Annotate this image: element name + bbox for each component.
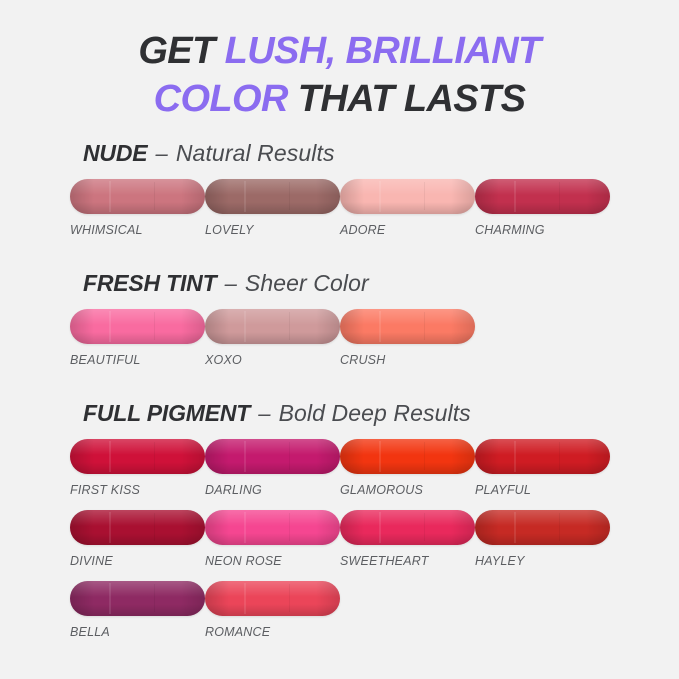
swatch-shading-edger: [316, 179, 340, 214]
shade-name-label: WHIMSICAL: [70, 223, 205, 237]
swatch-shading-edgel: [205, 309, 229, 344]
swatch-grid: BEAUTIFULXOXOCRUSH: [0, 309, 679, 380]
swatch-shading-sheenb: [205, 604, 340, 616]
swatch-shading-edger: [451, 439, 475, 474]
shade-swatch[interactable]: [205, 439, 340, 474]
swatch-shading-seam1: [109, 583, 111, 614]
swatch-shading-seam2: [424, 442, 425, 470]
swatch-item-hayley[interactable]: HAYLEY: [475, 510, 610, 581]
shade-swatch[interactable]: [205, 581, 340, 616]
shade-section-nude: NUDE – Natural ResultsWHIMSICALLOVELYADO…: [0, 142, 679, 250]
swatch-row: DIVINENEON ROSESWEETHEARTHAYLEY: [70, 510, 679, 581]
swatch-shading-edgel: [205, 510, 229, 545]
section-title: FRESH TINT: [83, 270, 216, 296]
swatch-shading-sheena: [340, 309, 475, 325]
swatch-shading-seam2: [289, 584, 290, 612]
swatch-shading-sheena: [205, 179, 340, 195]
swatch-shading-seam2: [289, 513, 290, 541]
shade-name-label: DIVINE: [70, 554, 205, 568]
swatch-shading-edger: [316, 439, 340, 474]
shade-swatch[interactable]: [70, 581, 205, 616]
swatch-shading-seam2: [154, 312, 155, 340]
swatch-shading-sheena: [475, 439, 610, 455]
swatch-grid: FIRST KISSDARLINGGLAMOROUSPLAYFULDIVINEN…: [0, 439, 679, 652]
shade-swatch[interactable]: [70, 439, 205, 474]
swatch-shading-edger: [451, 309, 475, 344]
section-title: NUDE: [83, 140, 147, 166]
swatch-shading-sheena: [475, 179, 610, 195]
product-shade-chart: GET LUSH, BRILLIANT COLOR THAT LASTS NUD…: [0, 0, 679, 679]
swatch-shading-seam1: [379, 181, 381, 212]
swatch-row: BEAUTIFULXOXOCRUSH: [70, 309, 679, 380]
shade-name-label: BEAUTIFUL: [70, 353, 205, 367]
swatch-shading-edger: [181, 439, 205, 474]
section-dash: –: [147, 141, 175, 166]
swatch-shading-edger: [451, 510, 475, 545]
headline-line-2: COLOR THAT LASTS: [0, 76, 679, 124]
swatch-shading-sheenb: [70, 604, 205, 616]
swatch-shading-seam2: [154, 442, 155, 470]
swatch-shading-seam2: [289, 312, 290, 340]
swatch-shading-edger: [316, 510, 340, 545]
swatch-shading-seam1: [244, 441, 246, 472]
swatch-shading-sheena: [70, 179, 205, 195]
swatch-shading-edgel: [70, 439, 94, 474]
shade-swatch[interactable]: [340, 309, 475, 344]
shade-name-label: DARLING: [205, 483, 340, 497]
swatch-shading-sheenb: [70, 202, 205, 214]
section-subtitle: Sheer Color: [245, 270, 369, 296]
swatch-shading-sheena: [70, 581, 205, 597]
shade-swatch[interactable]: [340, 179, 475, 214]
swatch-item-glamorous[interactable]: GLAMOROUS: [340, 439, 475, 510]
swatch-row: BELLAROMANCE: [70, 581, 679, 652]
swatch-shading-seam2: [424, 312, 425, 340]
section-subtitle: Bold Deep Results: [279, 400, 471, 426]
swatch-shading-seam2: [289, 182, 290, 210]
swatch-shading-sheena: [340, 179, 475, 195]
swatch-shading-seam2: [424, 513, 425, 541]
page-title: GET LUSH, BRILLIANT COLOR THAT LASTS: [0, 0, 679, 124]
shade-name-label: LOVELY: [205, 223, 340, 237]
swatch-shading-seam2: [154, 513, 155, 541]
swatch-item-charming[interactable]: CHARMING: [475, 179, 610, 250]
swatch-shading-seam1: [109, 311, 111, 342]
swatch-shading-edgel: [205, 581, 229, 616]
swatch-shading-seam1: [514, 512, 516, 543]
swatch-shading-seam2: [559, 182, 560, 210]
swatch-shading-sheenb: [205, 533, 340, 545]
swatch-shading-seam1: [379, 311, 381, 342]
swatch-item-neon-rose[interactable]: NEON ROSE: [205, 510, 340, 581]
swatch-item-playful[interactable]: PLAYFUL: [475, 439, 610, 510]
shade-swatch[interactable]: [70, 179, 205, 214]
swatch-shading-edgel: [70, 581, 94, 616]
swatch-shading-seam1: [244, 512, 246, 543]
swatch-shading-seam1: [514, 181, 516, 212]
swatch-shading-sheena: [205, 510, 340, 526]
swatch-shading-sheena: [70, 510, 205, 526]
headline-text-get: GET: [138, 30, 224, 72]
shade-name-label: CHARMING: [475, 223, 610, 237]
swatch-shading-sheenb: [70, 533, 205, 545]
swatch-shading-seam1: [109, 181, 111, 212]
swatch-shading-seam1: [244, 181, 246, 212]
swatch-shading-sheenb: [475, 533, 610, 545]
shade-swatch[interactable]: [475, 439, 610, 474]
headline-line-1: GET LUSH, BRILLIANT: [0, 28, 679, 76]
shade-swatch[interactable]: [340, 439, 475, 474]
section-heading: NUDE – Natural Results: [0, 142, 679, 165]
shade-name-label: GLAMOROUS: [340, 483, 475, 497]
shade-swatch[interactable]: [205, 309, 340, 344]
swatch-shading-sheena: [340, 439, 475, 455]
swatch-shading-sheenb: [70, 332, 205, 344]
swatch-shading-edgel: [205, 179, 229, 214]
swatch-shading-sheenb: [340, 533, 475, 545]
swatch-shading-seam2: [289, 442, 290, 470]
swatch-row: FIRST KISSDARLINGGLAMOROUSPLAYFUL: [70, 439, 679, 510]
swatch-shading-sheenb: [475, 202, 610, 214]
swatch-shading-sheena: [340, 510, 475, 526]
shade-name-label: PLAYFUL: [475, 483, 610, 497]
shade-name-label: XOXO: [205, 353, 340, 367]
swatch-item-bella[interactable]: BELLA: [70, 581, 205, 652]
swatch-shading-edgel: [205, 439, 229, 474]
shade-swatch[interactable]: [475, 179, 610, 214]
swatch-shading-seam1: [379, 441, 381, 472]
swatch-grid: WHIMSICALLOVELYADORECHARMING: [0, 179, 679, 250]
shade-name-label: HAYLEY: [475, 554, 610, 568]
swatch-item-first-kiss[interactable]: FIRST KISS: [70, 439, 205, 510]
swatch-shading-sheenb: [340, 332, 475, 344]
swatch-shading-edgel: [475, 439, 499, 474]
swatch-shading-sheena: [70, 309, 205, 325]
shade-name-label: CRUSH: [340, 353, 475, 367]
swatch-shading-edgel: [475, 179, 499, 214]
swatch-shading-edger: [451, 179, 475, 214]
swatch-shading-seam2: [559, 513, 560, 541]
swatch-shading-seam1: [244, 311, 246, 342]
shade-name-label: BELLA: [70, 625, 205, 639]
swatch-item-darling[interactable]: DARLING: [205, 439, 340, 510]
swatch-shading-seam1: [379, 512, 381, 543]
swatch-shading-edger: [586, 179, 610, 214]
swatch-shading-sheenb: [205, 462, 340, 474]
swatch-shading-edger: [316, 309, 340, 344]
section-subtitle: Natural Results: [176, 140, 335, 166]
swatch-shading-sheena: [70, 439, 205, 455]
swatch-item-crush[interactable]: CRUSH: [340, 309, 475, 380]
shade-name-label: SWEETHEART: [340, 554, 475, 568]
swatch-item-romance[interactable]: ROMANCE: [205, 581, 340, 652]
section-heading: FRESH TINT – Sheer Color: [0, 272, 679, 295]
swatch-shading-seam1: [244, 583, 246, 614]
shade-swatch[interactable]: [70, 510, 205, 545]
swatch-shading-sheenb: [70, 462, 205, 474]
swatch-shading-sheenb: [340, 202, 475, 214]
swatch-shading-edgel: [340, 309, 364, 344]
swatch-item-adore[interactable]: ADORE: [340, 179, 475, 250]
swatch-shading-edgel: [340, 179, 364, 214]
swatch-item-xoxo[interactable]: XOXO: [205, 309, 340, 380]
shade-swatch[interactable]: [340, 510, 475, 545]
shade-swatch[interactable]: [205, 510, 340, 545]
swatch-shading-sheena: [205, 439, 340, 455]
swatch-item-sweetheart[interactable]: SWEETHEART: [340, 510, 475, 581]
swatch-item-beautiful[interactable]: BEAUTIFUL: [70, 309, 205, 380]
section-dash: –: [216, 271, 244, 296]
swatch-shading-edger: [181, 510, 205, 545]
swatch-row: WHIMSICALLOVELYADORECHARMING: [70, 179, 679, 250]
section-dash: –: [250, 401, 278, 426]
shade-name-label: FIRST KISS: [70, 483, 205, 497]
swatch-shading-edgel: [475, 510, 499, 545]
swatch-shading-edger: [181, 581, 205, 616]
shade-swatch[interactable]: [70, 309, 205, 344]
swatch-item-lovely[interactable]: LOVELY: [205, 179, 340, 250]
section-heading: FULL PIGMENT – Bold Deep Results: [0, 402, 679, 425]
swatch-shading-edger: [586, 439, 610, 474]
swatch-shading-edgel: [70, 179, 94, 214]
headline-text-that-lasts: THAT LASTS: [288, 78, 526, 120]
swatch-shading-seam1: [514, 441, 516, 472]
section-title: FULL PIGMENT: [83, 400, 250, 426]
swatch-shading-edgel: [70, 309, 94, 344]
shade-name-label: NEON ROSE: [205, 554, 340, 568]
swatch-shading-edgel: [340, 510, 364, 545]
swatch-shading-sheena: [205, 309, 340, 325]
swatch-shading-edgel: [340, 439, 364, 474]
headline-accent-lush-brilliant: LUSH, BRILLIANT: [225, 30, 541, 72]
shade-swatch[interactable]: [475, 510, 610, 545]
shade-section-full-pigment: FULL PIGMENT – Bold Deep ResultsFIRST KI…: [0, 402, 679, 652]
swatch-shading-seam2: [424, 182, 425, 210]
swatch-shading-seam2: [559, 442, 560, 470]
shade-name-label: ROMANCE: [205, 625, 340, 639]
headline-accent-color: COLOR: [154, 78, 288, 120]
swatch-shading-sheenb: [340, 462, 475, 474]
swatch-shading-seam1: [109, 512, 111, 543]
swatch-shading-seam1: [109, 441, 111, 472]
shade-swatch[interactable]: [205, 179, 340, 214]
swatch-shading-sheena: [205, 581, 340, 597]
swatch-shading-edgel: [70, 510, 94, 545]
swatch-shading-sheenb: [205, 202, 340, 214]
swatch-shading-sheenb: [205, 332, 340, 344]
swatch-shading-edger: [586, 510, 610, 545]
swatch-shading-edger: [181, 179, 205, 214]
shade-name-label: ADORE: [340, 223, 475, 237]
swatch-shading-seam2: [154, 182, 155, 210]
swatch-shading-sheenb: [475, 462, 610, 474]
swatch-item-divine[interactable]: DIVINE: [70, 510, 205, 581]
swatch-shading-seam2: [154, 584, 155, 612]
shade-sections: NUDE – Natural ResultsWHIMSICALLOVELYADO…: [0, 142, 679, 652]
swatch-shading-edger: [316, 581, 340, 616]
swatch-shading-sheena: [475, 510, 610, 526]
swatch-item-whimsical[interactable]: WHIMSICAL: [70, 179, 205, 250]
swatch-shading-edger: [181, 309, 205, 344]
shade-section-fresh-tint: FRESH TINT – Sheer ColorBEAUTIFULXOXOCRU…: [0, 272, 679, 380]
